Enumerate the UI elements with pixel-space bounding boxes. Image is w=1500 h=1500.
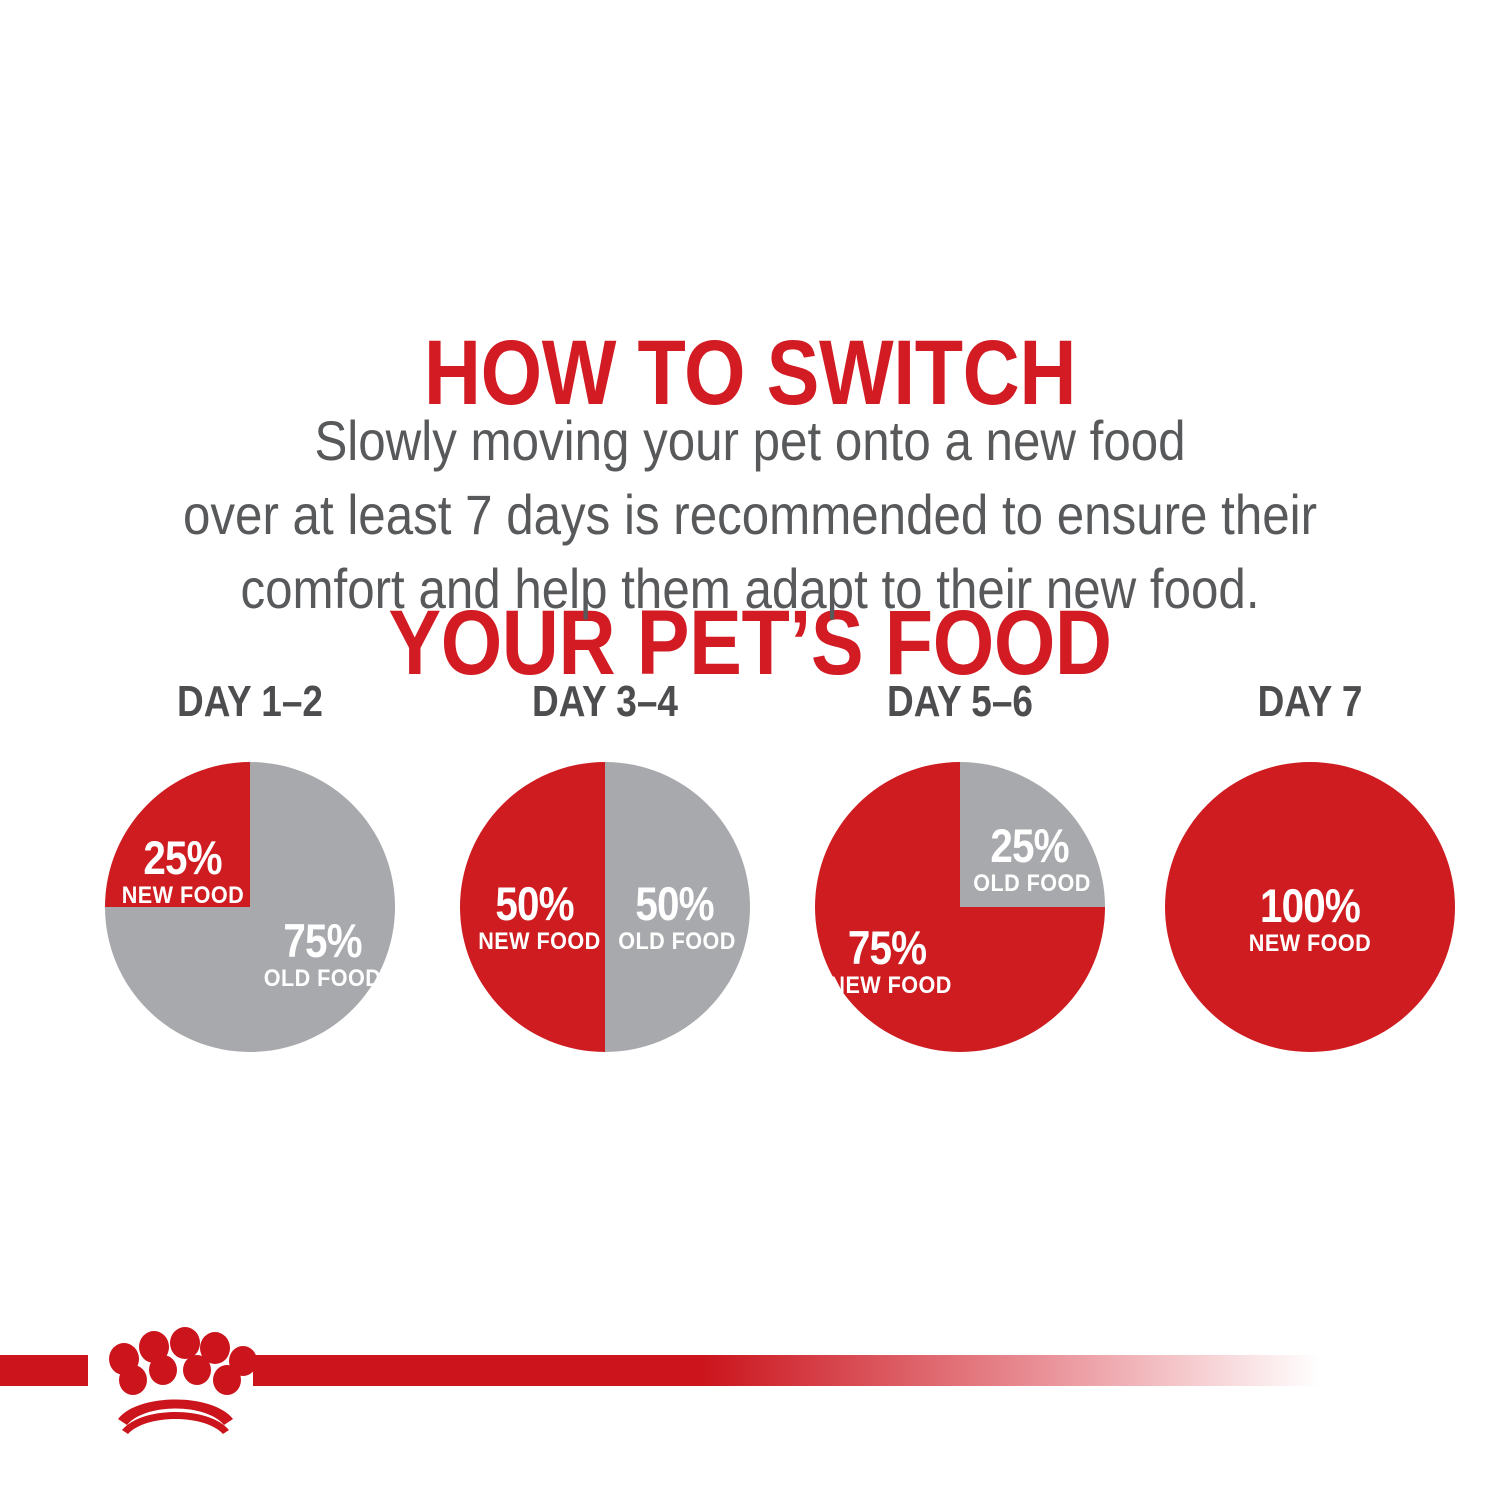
pie-graphic: 100% NEW FOOD [1165,762,1455,1052]
intro-line-1: Slowly moving your pet onto a new food [90,404,1410,478]
pie-chart-day-7: DAY 7 100% NEW FOOD [1160,680,1460,1052]
infographic-canvas: HOW TO SWITCH YOUR PET’S FOOD Slowly mov… [0,0,1500,1500]
pie-chart-day-3-4: DAY 3–4 50% NEW FOOD 50% OLD FOOD [455,680,755,1052]
intro-line-3: comfort and help them adapt to their new… [90,552,1410,626]
intro-line-2: over at least 7 days is recommended to e… [90,478,1410,552]
royal-canin-crown-icon [93,1320,258,1435]
pie-slice-old-food [605,762,750,1052]
pie-day-label: DAY 3–4 [479,680,731,724]
footer [0,1300,1500,1500]
pie-graphic: 25% OLD FOOD 75% NEW FOOD [815,762,1105,1052]
pie-chart-row: DAY 1–2 25% NEW FOOD 75% OLD FOOD [0,680,1500,1100]
pie-slice-old-food [960,762,1105,907]
pie-slice-new-food [105,762,250,907]
pie-day-label: DAY 1–2 [124,680,376,724]
pie-graphic: 50% NEW FOOD 50% OLD FOOD [460,762,750,1052]
pie-graphic: 25% NEW FOOD 75% OLD FOOD [105,762,395,1052]
intro-paragraph: Slowly moving your pet onto a new food o… [90,404,1410,626]
footer-bar-right [253,1355,1320,1386]
pie-chart-day-1-2: DAY 1–2 25% NEW FOOD 75% OLD FOOD [100,680,400,1052]
footer-bar-left [0,1355,88,1386]
pie-day-label: DAY 5–6 [834,680,1086,724]
pie-slice-new-food [1165,762,1455,1052]
pie-chart-day-5-6: DAY 5–6 25% OLD FOOD 75% NEW FOOD [810,680,1110,1052]
pie-day-label: DAY 7 [1184,680,1436,724]
pie-slice-new-food [460,762,605,1052]
